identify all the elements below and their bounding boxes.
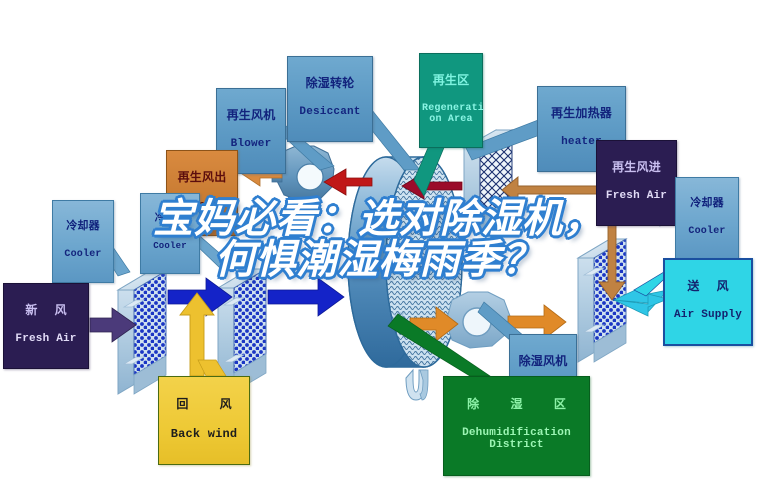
label-regen-blower-cn: 再生风机 [219,109,283,122]
label-regeneration-fresh-air-in: 再生风进 Fresh Air [596,140,677,226]
label-cooler-left-1-en: Cooler [55,250,111,261]
label-desiccant-wheel: 除湿转轮 Desiccant [287,56,373,142]
label-cooler-left-2-cn: 冷却器 [143,214,197,225]
label-cooler-right-cn: 冷却器 [678,198,736,210]
cooler-coil-left-2 [218,269,266,392]
label-back-wind-en: Back wind [162,428,246,441]
label-dehum-area-en: Dehumidification District [447,428,586,452]
label-desiccant-en: Desiccant [290,107,370,119]
label-cooler-left-1: 冷却器 Cooler [52,200,114,283]
condensate-drain [406,370,428,400]
label-exhaust-cn: 再生风出 [169,171,235,184]
label-heater-cn: 再生加热器 [540,107,623,120]
label-regen-area-cn: 再生区 [422,74,480,87]
label-dehum-area-cn: 除 湿 区 [447,398,586,411]
label-fresh-air-cn: 新 风 [7,304,85,317]
label-cooler-left-1-cn: 冷却器 [55,221,111,233]
diagram-canvas: XT [0,0,757,488]
label-back-wind: 回 风 Back wind [158,376,250,465]
label-regeneration-area: 再生区 Regenerati on Area [419,53,483,148]
label-cooler-right: 冷却器 Cooler [675,177,739,260]
process-air-arrow-2 [268,278,344,316]
label-back-wind-cn: 回 风 [162,398,246,411]
label-fresh-air-inlet: 新 风 Fresh Air [3,283,89,369]
label-dehumidification-district: 除 湿 区 Dehumidification District [443,376,590,476]
label-fresh-in-cn: 再生风进 [599,161,674,174]
label-desiccant-cn: 除湿转轮 [290,77,370,90]
label-cooler-left-2: 冷却器 Cooler [140,193,200,274]
label-cooler-right-en: Cooler [678,227,736,238]
label-fresh-in-en: Fresh Air [599,191,674,203]
label-air-supply: 送 风 Air Supply [663,258,753,346]
label-air-supply-cn: 送 风 [668,280,748,293]
label-regen-area-en: Regenerati on Area [422,104,480,126]
label-air-supply-en: Air Supply [668,310,748,322]
label-dehum-blower-cn: 除湿风机 [512,355,574,368]
label-cooler-left-2-en: Cooler [143,242,197,252]
label-fresh-air-en: Fresh Air [7,334,85,346]
